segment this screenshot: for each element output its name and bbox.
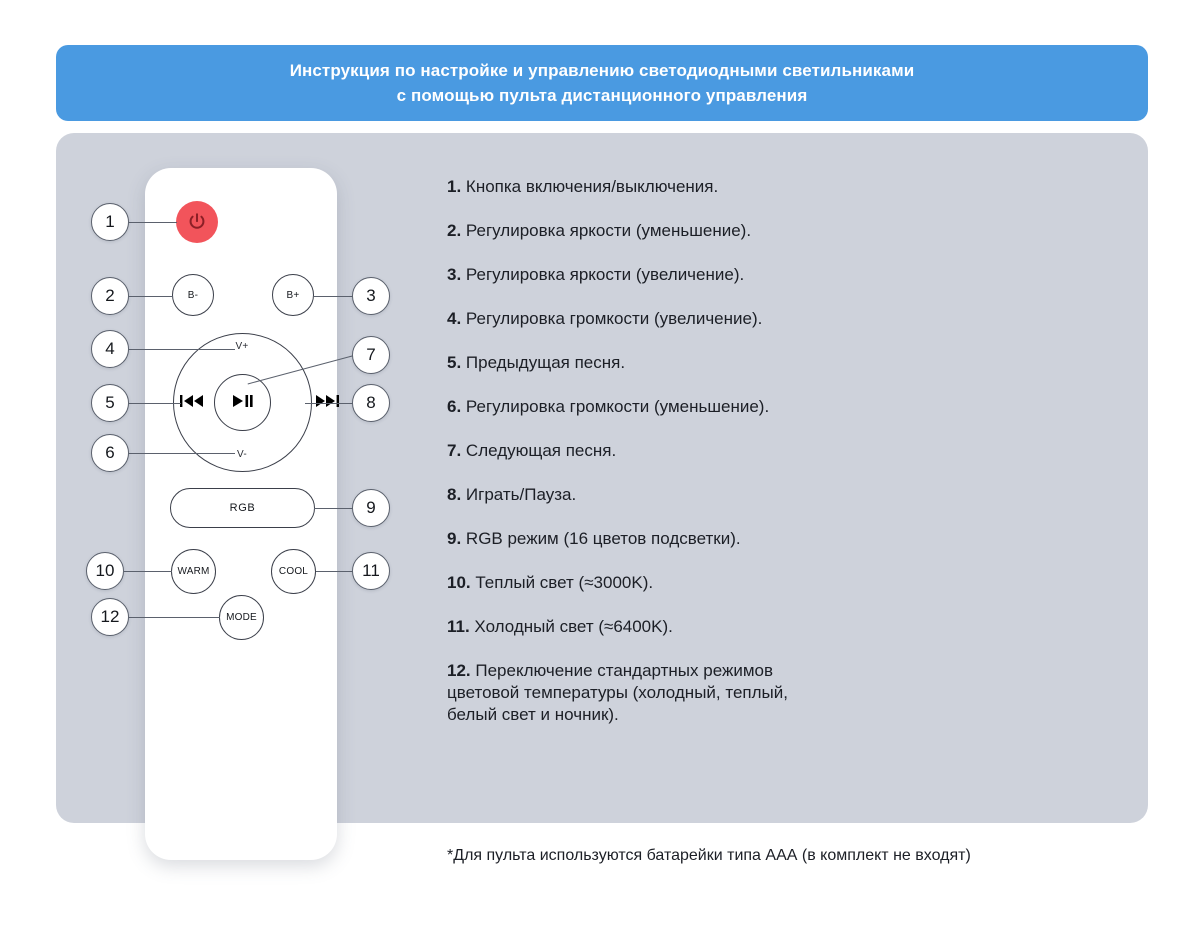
battery-footnote: *Для пульта используются батарейки типа … xyxy=(447,845,971,867)
cool-button[interactable]: COOL xyxy=(271,549,316,594)
leader-line-10 xyxy=(124,571,172,572)
leader-line-4 xyxy=(129,349,235,350)
instruction-text: Регулировка яркости (уменьшение). xyxy=(461,221,751,240)
instruction-item: 6. Регулировка громкости (уменьшение). xyxy=(447,396,1107,418)
brightness-down-button[interactable]: B- xyxy=(172,274,214,316)
warm-button[interactable]: WARM xyxy=(171,549,216,594)
instruction-item: 11. Холодный свет (≈6400K). xyxy=(447,616,1107,638)
callout-6: 6 xyxy=(91,434,129,472)
instruction-item: 4. Регулировка громкости (увеличение). xyxy=(447,308,1107,330)
leader-line-1 xyxy=(129,222,177,223)
instruction-item: 9. RGB режим (16 цветов подсветки). xyxy=(447,528,1107,550)
instruction-text: Следующая песня. xyxy=(461,441,616,460)
instruction-number: 6. xyxy=(447,397,461,416)
instruction-text: Переключение стандартных режимов цветово… xyxy=(447,661,788,724)
instruction-item: 5. Предыдущая песня. xyxy=(447,352,1107,374)
header-banner: Инструкция по настройке и управлению све… xyxy=(56,45,1148,121)
callout-8: 8 xyxy=(352,384,390,422)
instruction-number: 8. xyxy=(447,485,461,504)
leader-line-11 xyxy=(316,571,353,572)
callout-11: 11 xyxy=(352,552,390,590)
volume-down-label[interactable]: V- xyxy=(222,449,262,460)
instruction-number: 11. xyxy=(447,617,470,636)
callout-5: 5 xyxy=(91,384,129,422)
leader-line-6 xyxy=(129,453,235,454)
leader-line-8 xyxy=(305,403,353,404)
power-button[interactable] xyxy=(176,201,218,243)
rgb-button[interactable]: RGB xyxy=(170,488,315,528)
leader-line-5 xyxy=(129,403,181,404)
power-icon xyxy=(186,211,208,233)
instruction-item: 12. Переключение стандартных режимов цве… xyxy=(447,660,1107,726)
callout-7: 7 xyxy=(352,336,390,374)
callout-3: 3 xyxy=(352,277,390,315)
instruction-text: Регулировка громкости (увеличение). xyxy=(461,309,762,328)
instruction-item: 2. Регулировка яркости (уменьшение). xyxy=(447,220,1107,242)
play-pause-button[interactable] xyxy=(214,374,271,431)
header-title-line-2: с помощью пульта дистанционного управлен… xyxy=(397,83,808,108)
play-pause-icon xyxy=(230,393,256,413)
next-track-glyph xyxy=(314,393,340,409)
instruction-item: 3. Регулировка яркости (увеличение). xyxy=(447,264,1107,286)
callout-1: 1 xyxy=(91,203,129,241)
volume-up-label[interactable]: V+ xyxy=(222,341,262,352)
instruction-text: Играть/Пауза. xyxy=(461,485,576,504)
instruction-page: Инструкция по настройке и управлению све… xyxy=(0,0,1200,933)
instruction-text: Теплый свет (≈3000K). xyxy=(471,573,653,592)
previous-track-glyph xyxy=(179,393,205,409)
instruction-item: 8. Играть/Пауза. xyxy=(447,484,1107,506)
leader-line-2 xyxy=(129,296,173,297)
leader-line-9 xyxy=(314,508,353,509)
instruction-number: 10. xyxy=(447,573,471,592)
instruction-text: RGB режим (16 цветов подсветки). xyxy=(461,529,740,548)
instruction-number: 7. xyxy=(447,441,461,460)
instruction-item: 10. Теплый свет (≈3000K). xyxy=(447,572,1107,594)
instruction-text: Предыдущая песня. xyxy=(461,353,625,372)
callout-12: 12 xyxy=(91,598,129,636)
instruction-number: 12. xyxy=(447,661,471,680)
instruction-number: 4. xyxy=(447,309,461,328)
instruction-number: 9. xyxy=(447,529,461,548)
instruction-number: 1. xyxy=(447,177,461,196)
instruction-number: 2. xyxy=(447,221,461,240)
play-pause-glyph xyxy=(230,393,256,409)
callout-9: 9 xyxy=(352,489,390,527)
callout-4: 4 xyxy=(91,330,129,368)
instruction-number: 3. xyxy=(447,265,461,284)
callout-2: 2 xyxy=(91,277,129,315)
instruction-item: 7. Следующая песня. xyxy=(447,440,1107,462)
brightness-up-button[interactable]: B+ xyxy=(272,274,314,316)
leader-line-3 xyxy=(314,296,353,297)
instruction-item: 1. Кнопка включения/выключения. xyxy=(447,176,1107,198)
callout-10: 10 xyxy=(86,552,124,590)
mode-button[interactable]: MODE xyxy=(219,595,264,640)
header-title-line-1: Инструкция по настройке и управлению све… xyxy=(290,58,915,83)
instruction-number: 5. xyxy=(447,353,461,372)
leader-line-12 xyxy=(129,617,220,618)
instruction-text: Регулировка яркости (увеличение). xyxy=(461,265,744,284)
instruction-text: Кнопка включения/выключения. xyxy=(461,177,718,196)
instruction-list: 1. Кнопка включения/выключения.2. Регули… xyxy=(447,176,1107,726)
instruction-text: Холодный свет (≈6400K). xyxy=(470,617,673,636)
instruction-text: Регулировка громкости (уменьшение). xyxy=(461,397,769,416)
